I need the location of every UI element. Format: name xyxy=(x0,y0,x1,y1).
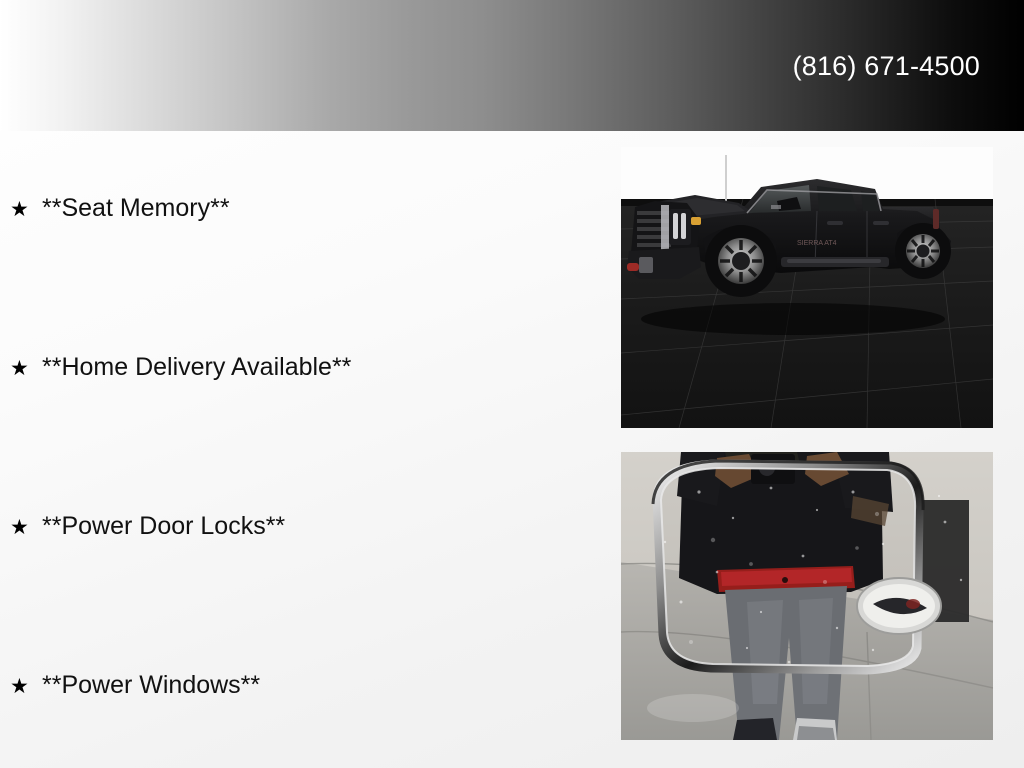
star-bullet-icon: ★ xyxy=(10,513,42,543)
star-bullet-icon: ★ xyxy=(10,354,42,384)
svg-text:SIERRA AT4: SIERRA AT4 xyxy=(797,240,837,247)
star-bullet-icon: ★ xyxy=(10,195,42,225)
feature-label: **Power Windows** xyxy=(42,670,260,700)
dealer-phone-number[interactable]: (816) 671-4500 xyxy=(793,50,980,82)
feature-label: **Home Delivery Available** xyxy=(42,352,351,382)
list-item: ★ **Power Windows** xyxy=(10,670,260,702)
vehicle-feature-list: ★ **Seat Memory** ★ **Home Delivery Avai… xyxy=(0,131,600,768)
list-item: ★ **Home Delivery Available** xyxy=(10,352,351,384)
feature-label: **Power Door Locks** xyxy=(42,511,285,541)
truck-exterior-photo[interactable]: SIERRA AT4 xyxy=(621,147,993,428)
feature-label: **Seat Memory** xyxy=(42,193,230,223)
header-gradient-band: (816) 671-4500 xyxy=(0,0,1024,131)
list-item: ★ **Seat Memory** xyxy=(10,193,230,225)
side-mirror-photo[interactable] xyxy=(621,452,993,740)
star-bullet-icon: ★ xyxy=(10,672,42,702)
list-item: ★ **Power Door Locks** xyxy=(10,511,285,543)
